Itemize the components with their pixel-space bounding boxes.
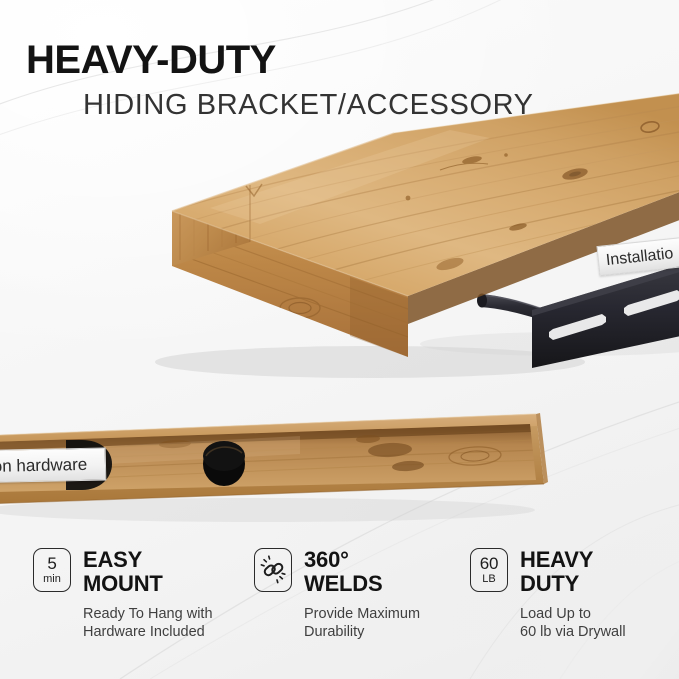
feature-desc-line2: Hardware Included xyxy=(83,623,253,642)
mounting-hole xyxy=(203,441,245,486)
feature-title-line2: MOUNT xyxy=(83,572,163,596)
feature-title-line1: HEAVY xyxy=(520,548,593,572)
chain-link-weld-icon xyxy=(254,549,292,591)
feature-title-line1: EASY xyxy=(83,548,163,572)
feature-title: 360° WELDS xyxy=(304,548,382,596)
feature-desc-line1: Load Up to xyxy=(520,605,679,624)
top-shelf-product-photo xyxy=(150,112,679,372)
feature-description: Load Up to 60 lb via Drywall xyxy=(520,605,679,642)
badge-unit: LB xyxy=(482,574,495,585)
badge-unit: min xyxy=(43,574,61,585)
clock-5-min-badge: 5 min xyxy=(33,548,71,592)
feature-description: Ready To Hang with Hardware Included xyxy=(83,605,253,642)
feature-easy-mount: 5 min EASY MOUNT Ready To Hang with Hard… xyxy=(33,548,253,670)
feature-desc-line2: Durability xyxy=(304,623,474,642)
chain-link-weld-badge xyxy=(254,548,292,592)
installation-hardware-label-bottom: ion hardware xyxy=(0,447,106,483)
feature-title: HEAVY DUTY xyxy=(520,548,593,596)
feature-title-line1: 360° xyxy=(304,548,382,572)
feature-title-line2: WELDS xyxy=(304,572,382,596)
feature-desc-line1: Provide Maximum xyxy=(304,605,474,624)
feature-title: EASY MOUNT xyxy=(83,548,163,596)
badge-value: 5 xyxy=(47,555,56,572)
page-title: HEAVY-DUTY xyxy=(26,40,534,80)
feature-description: Provide Maximum Durability xyxy=(304,605,474,642)
product-marketing-image: HEAVY-DUTY HIDING BRACKET/ACCESSORY xyxy=(0,0,679,679)
feature-desc-line1: Ready To Hang with xyxy=(83,605,253,624)
page-subtitle: HIDING BRACKET/ACCESSORY xyxy=(83,91,534,120)
feature-360-welds: 360° WELDS Provide Maximum Durability xyxy=(254,548,474,670)
weight-60-lb-badge: 60 LB xyxy=(470,548,508,592)
badge-value: 60 xyxy=(480,555,499,572)
feature-title-line2: DUTY xyxy=(520,572,593,596)
headline-block: HEAVY-DUTY HIDING BRACKET/ACCESSORY xyxy=(26,40,534,120)
feature-highlights-row: 5 min EASY MOUNT Ready To Hang with Hard… xyxy=(0,548,679,670)
feature-desc-line2: 60 lb via Drywall xyxy=(520,623,679,642)
feature-heavy-duty: 60 LB HEAVY DUTY Load Up to 60 lb via Dr… xyxy=(470,548,679,670)
